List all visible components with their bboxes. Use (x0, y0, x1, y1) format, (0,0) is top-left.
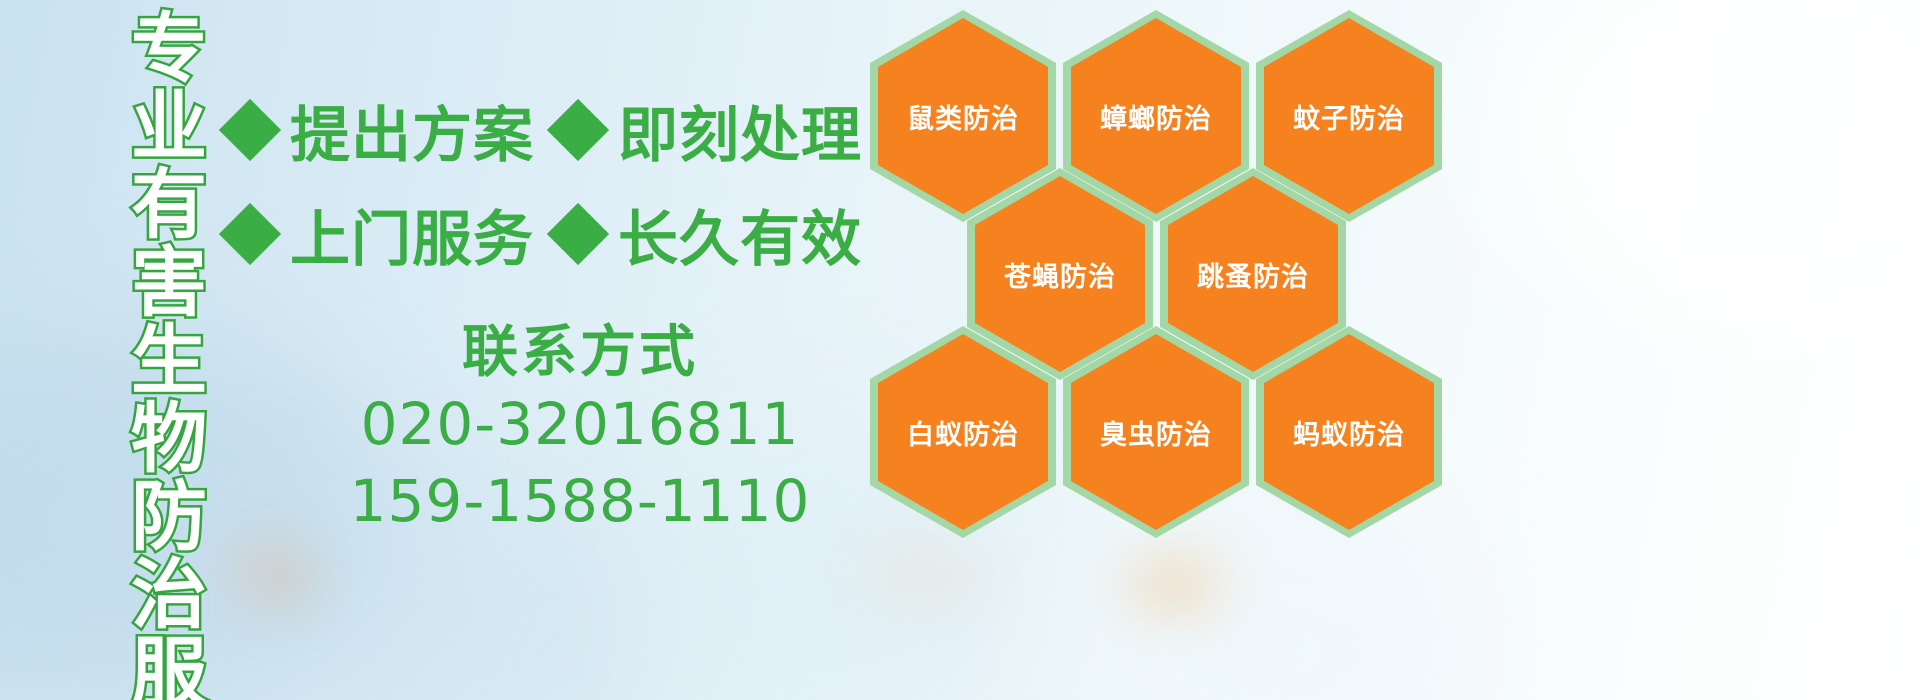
feature-item: 即刻处理 (556, 87, 884, 174)
phone-mobile[interactable]: 159-1588-1110 (300, 463, 860, 540)
service-label: 蚊子防治 (1293, 97, 1405, 136)
feature-row: 上门服务 长久有效 (228, 182, 868, 286)
feature-item: 提出方案 (228, 87, 556, 174)
feature-label: 即刻处理 (618, 87, 862, 174)
service-label: 蟑螂防治 (1100, 97, 1212, 136)
contact-block: 联系方式 020-32016811 159-1588-1110 (300, 320, 860, 539)
diamond-bullet-icon (219, 203, 281, 265)
diamond-bullet-icon (547, 99, 609, 161)
hexagon-inner: 臭虫防治 (1071, 334, 1241, 530)
hexagon-inner: 鼠类防治 (878, 18, 1048, 214)
hexagon-inner: 蚂蚁防治 (1264, 334, 1434, 530)
pest-control-banner: 专业有害生物防治服务 提出方案 即刻处理 上门服务 长久有效 联系方式 0 (0, 0, 1920, 700)
hexagon-inner: 跳蚤防治 (1168, 176, 1338, 372)
feature-item: 上门服务 (228, 191, 556, 278)
feature-row: 提出方案 即刻处理 (228, 78, 868, 182)
service-hexagon-grid: 鼠类防治 蟑螂防治 蚊子防治 苍蝇防治 跳蚤防治 白蚁防治 (862, 0, 1462, 700)
feature-label: 提出方案 (290, 87, 534, 174)
vertical-headline: 专业有害生物防治服务 (104, 8, 200, 700)
hexagon-inner: 蚊子防治 (1264, 18, 1434, 214)
diamond-bullet-icon (219, 99, 281, 161)
feature-list: 提出方案 即刻处理 上门服务 长久有效 (228, 78, 868, 286)
contact-heading: 联系方式 (300, 320, 860, 386)
hexagon-inner: 蟑螂防治 (1071, 18, 1241, 214)
feature-label: 长久有效 (618, 191, 862, 278)
diamond-bullet-icon (547, 203, 609, 265)
service-label: 跳蚤防治 (1197, 255, 1309, 294)
feature-label: 上门服务 (290, 191, 534, 278)
service-label: 白蚁防治 (907, 413, 1019, 452)
background-blur-blob (1480, 0, 1920, 340)
phone-landline[interactable]: 020-32016811 (300, 386, 860, 463)
background-smudge (230, 545, 310, 595)
service-label: 臭虫防治 (1100, 413, 1212, 452)
hexagon-inner: 白蚁防治 (878, 334, 1048, 530)
service-label: 鼠类防治 (907, 97, 1019, 136)
hexagon-inner: 苍蝇防治 (975, 176, 1145, 372)
service-label: 蚂蚁防治 (1293, 413, 1405, 452)
feature-item: 长久有效 (556, 191, 884, 278)
background-smudge (262, 560, 308, 606)
service-label: 苍蝇防治 (1004, 255, 1116, 294)
